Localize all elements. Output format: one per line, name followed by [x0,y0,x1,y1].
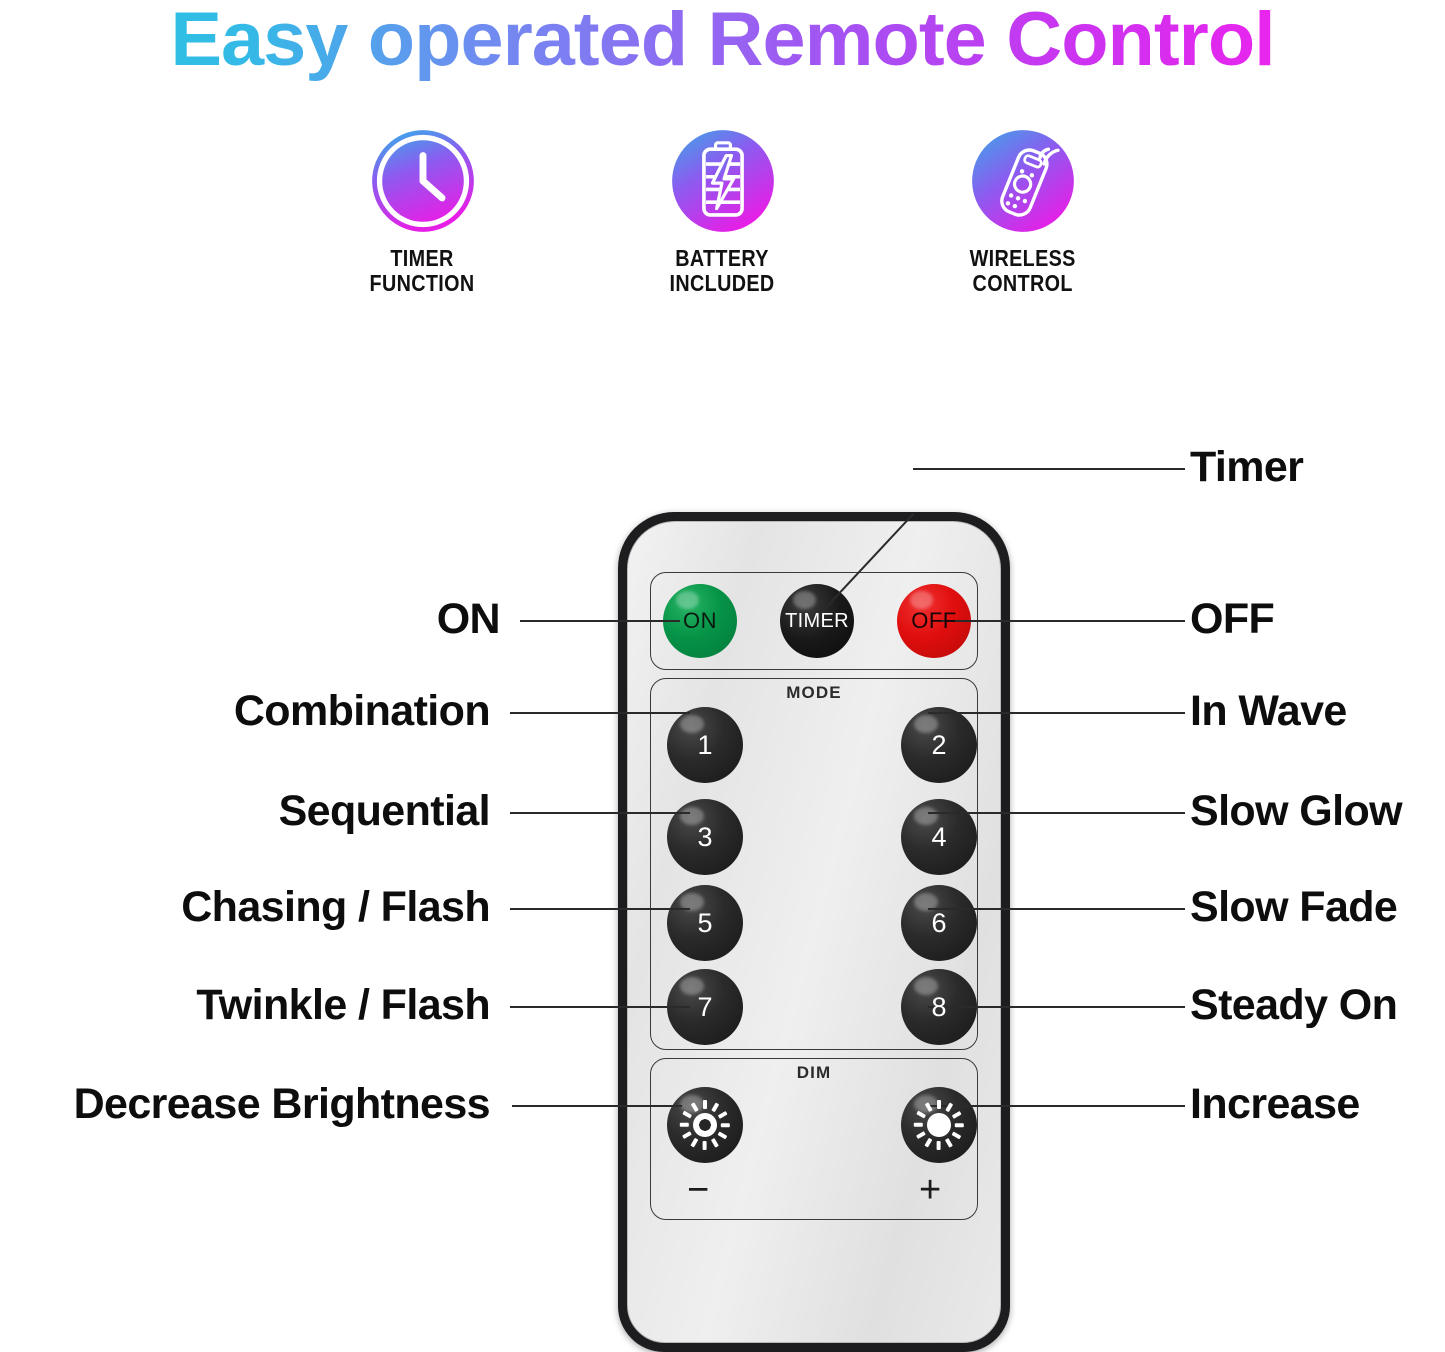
power-panel: ON TIMER OFF [650,572,978,670]
sun-ray [718,1111,728,1119]
mode-button-3[interactable]: 3 [667,799,743,875]
sun-ray [937,1100,941,1109]
on-button-label: ON [683,608,717,634]
feature-label: TIMER FUNCTION [370,246,475,296]
sun-ray [937,1141,941,1150]
callout-slow-glow: Slow Glow [1190,790,1402,833]
mode-button-label: 2 [931,730,946,761]
remote-icon [970,128,1076,234]
callout-sequential: Sequential [279,790,490,833]
dim-decrease-button[interactable] [667,1087,743,1163]
sun-ray [914,1123,923,1127]
sun-ray [680,1123,689,1127]
sun-ray [945,1138,953,1148]
feature-wireless: WIRELESS CONTROL [873,128,1173,296]
leader-line-slowglow [928,812,1185,814]
leader-line-combination [510,712,690,714]
mode-button-label: 3 [697,822,712,853]
mode-button-5[interactable]: 5 [667,885,743,961]
sun-ray [703,1141,707,1150]
callout-chasing-flash: Chasing / Flash [181,886,490,929]
leader-line-on [520,620,680,622]
brightness-high-icon [914,1100,964,1150]
leader-line-chasing [510,908,690,910]
sun-ray [711,1102,719,1112]
timer-button-label: TIMER [785,610,849,633]
feature-label: BATTERY INCLUDED [670,246,775,296]
mode-button-label: 4 [931,822,946,853]
battery-icon [670,128,776,234]
sun-ray [691,1138,699,1148]
mode-panel-title: MODE [651,683,977,703]
callout-off: OFF [1190,598,1274,641]
sun-ray [916,1131,926,1139]
leader-line-sequential [510,812,690,814]
feature-badges: TIMER FUNCTION [0,128,1445,318]
dim-panel-title: DIM [651,1063,977,1083]
leader-line-slowfade [928,908,1185,910]
remote-control-device: ON TIMER OFF MODE 1 2 3 4 5 6 [618,512,1010,1352]
timer-button[interactable]: TIMER [780,584,854,658]
sun-ray [952,1131,962,1139]
minus-sign-label: − [687,1171,709,1209]
callout-in-wave: In Wave [1190,690,1347,733]
leader-line-twinkle [510,1006,690,1008]
feature-battery: BATTERY INCLUDED [573,128,873,296]
remote-faceplate: ON TIMER OFF MODE 1 2 3 4 5 6 [627,521,1001,1343]
leader-line-off [940,620,1185,622]
mode-button-label: 6 [931,908,946,939]
callout-timer: Timer [1190,446,1303,489]
mode-button-1[interactable]: 1 [667,707,743,783]
mode-button-4[interactable]: 4 [901,799,977,875]
sun-ray [952,1111,962,1119]
plus-sign-label: + [919,1171,941,1209]
leader-line-steadyon [928,1006,1185,1008]
leader-line-inwave [928,712,1185,714]
sun-ray [718,1131,728,1139]
mode-button-label: 1 [697,730,712,761]
callout-on: ON [437,598,500,641]
sun-ray [691,1102,699,1112]
sun-ray [682,1131,692,1139]
mode-panel: MODE 1 2 3 4 5 6 7 8 [650,678,978,1050]
off-button-label: OFF [911,608,957,634]
leader-line-timer [913,468,1185,470]
callout-combination: Combination [234,690,490,733]
callout-decrease-brightness: Decrease Brightness [74,1083,490,1126]
sun-ray [711,1138,719,1148]
sun-ray [925,1102,933,1112]
sun-ray [945,1102,953,1112]
sun-ray [916,1111,926,1119]
sun-ray [703,1100,707,1109]
feature-timer: TIMER FUNCTION [273,128,573,296]
sun-ray [925,1138,933,1148]
leader-line-decrease [512,1105,682,1107]
dim-increase-button[interactable] [901,1087,977,1163]
mode-button-label: 5 [697,908,712,939]
leader-line-increase [930,1105,1185,1107]
callout-slow-fade: Slow Fade [1190,886,1397,929]
callout-increase: Increase [1190,1083,1360,1126]
callout-twinkle-flash: Twinkle / Flash [196,984,490,1027]
sun-ray [955,1123,964,1127]
clock-icon [370,128,476,234]
callout-steady-on: Steady On [1190,984,1397,1027]
dim-panel: DIM − + [650,1058,978,1220]
sun-ray [682,1111,692,1119]
feature-label: WIRELESS CONTROL [969,246,1075,296]
sun-ray [721,1123,730,1127]
mode-button-label: 8 [931,992,946,1023]
page-title: Easy operated Remote Control [0,0,1445,84]
brightness-low-icon [680,1100,730,1150]
mode-button-2[interactable]: 2 [901,707,977,783]
mode-button-6[interactable]: 6 [901,885,977,961]
mode-button-label: 7 [697,992,712,1023]
